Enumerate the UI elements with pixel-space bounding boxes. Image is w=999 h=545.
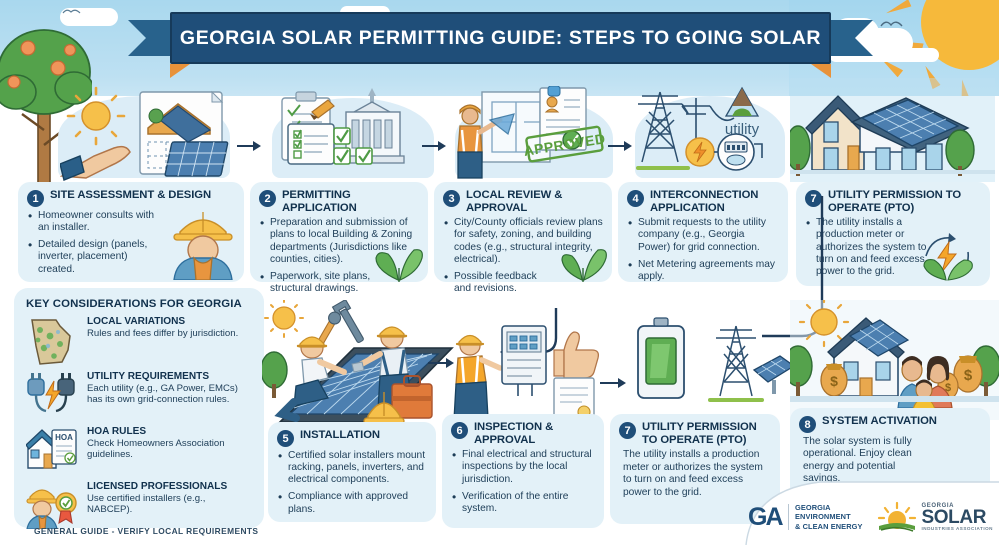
key-consideration-title: LICENSED PROFESSIONALS [87, 481, 252, 493]
ga-logo-line1: GEORGIA [795, 503, 863, 512]
leaf-sprout-icon [374, 238, 424, 282]
bullet-item: Submit requests to the utility company (… [627, 217, 779, 253]
step-badge: 7 [619, 422, 636, 439]
bullet-item: Final electrical and structural inspecti… [451, 449, 595, 485]
step-badge: 4 [627, 190, 644, 207]
ga-logo-line2: ENVIRONMENT [795, 512, 863, 521]
gsia-logo-tiny: INDUSTRIES ASSOCIATION [922, 527, 994, 532]
key-consideration-title: UTILITY REQUIREMENTS [87, 371, 252, 383]
step-bullets: Final electrical and structural inspecti… [451, 449, 595, 515]
georgia-map-icon [26, 316, 78, 364]
energy-cycle-leaf-icon [916, 228, 980, 282]
key-consideration-item[interactable]: LICENSED PROFESSIONALS Use certified ins… [26, 481, 252, 529]
step-4-illustration: utility [630, 82, 790, 182]
logo-divider [788, 504, 790, 530]
bullet-item: Net Metering agreements may apply. [627, 259, 779, 283]
step-badge: 8 [799, 416, 816, 433]
step-badge: 3 [443, 190, 460, 207]
svg-text:$: $ [830, 373, 838, 389]
key-consideration-title: LOCAL VARIATIONS [87, 316, 238, 328]
key-consideration-desc: Rules and fees differ by jurisdiction. [87, 328, 238, 339]
step-bullets: Certified solar installers mount racking… [277, 450, 427, 516]
step-6-illustration [450, 318, 610, 422]
svg-text:HOA: HOA [55, 433, 73, 442]
step-title: PERMITTING APPLICATION [282, 189, 419, 214]
installer-avatar-icon [166, 206, 240, 280]
step-badge: 1 [27, 190, 44, 207]
page-title: GEORGIA SOLAR PERMITTING GUIDE: STEPS TO… [180, 27, 821, 50]
bullet-item: Detailed design (panels, inverter, place… [27, 239, 167, 275]
title-banner: GEORGIA SOLAR PERMITTING GUIDE: STEPS TO… [170, 12, 831, 64]
key-considerations-heading: KEY CONSIDERATIONS FOR GEORGIA [26, 298, 252, 310]
gsia-logo-big: SOLAR [922, 509, 994, 527]
step-card-6[interactable]: 6 INSPECTION & APPROVAL Final electrical… [442, 414, 604, 528]
svg-text:utility: utility [725, 121, 760, 138]
step-bullets: Submit requests to the utility company (… [627, 217, 779, 283]
bird-icon [880, 18, 904, 30]
step-card-2[interactable]: 2 PERMITTING APPLICATION Preparation and… [250, 182, 428, 282]
step-title: SITE ASSESSMENT & DESIGN [50, 189, 211, 202]
title-ribbon: GEORGIA SOLAR PERMITTING GUIDE: STEPS TO… [128, 12, 873, 64]
bullet-item: Compliance with approved plans. [277, 491, 427, 515]
key-consideration-item[interactable]: LOCAL VARIATIONS Rules and fees differ b… [26, 316, 252, 364]
leaf-sprout-icon [560, 238, 608, 282]
power-plug-icon [26, 371, 78, 419]
step-7-top-illustration [790, 78, 995, 182]
key-consideration-item[interactable]: UTILITY REQUIREMENTS Each utility (e.g.,… [26, 371, 252, 419]
flow-arrow-1-2 [237, 141, 263, 151]
step-2-illustration [272, 84, 437, 182]
bullet-item: Homeowner consults with an installer. [27, 210, 162, 234]
step-card-1[interactable]: 1 SITE ASSESSMENT & DESIGN Homeowner con… [18, 182, 244, 282]
bullet-item: Paperwork, site plans, structural drawin… [259, 271, 374, 295]
step-title: INSTALLATION [300, 429, 380, 442]
ga-logo-mark: GA [748, 505, 782, 530]
step-card-5[interactable]: 5 INSTALLATION Certified solar installer… [268, 422, 436, 522]
flow-arrow-6-7 [600, 378, 630, 388]
step-title: SYSTEM ACTIVATION [822, 415, 937, 428]
key-consideration-desc: Check Homeowners Association guidelines. [87, 438, 252, 461]
ga-logo-line3: & CLEAN ENERGY [795, 522, 863, 531]
step-badge: 2 [259, 190, 276, 207]
footer-disclaimer: GENERAL GUIDE - VERIFY LOCAL REQUIREMENT… [34, 526, 258, 536]
key-consideration-item[interactable]: HOA HOA RULES Check Homeowners Associati… [26, 426, 252, 474]
sun-field-icon [877, 500, 917, 534]
bullet-item: Certified solar installers mount racking… [277, 450, 427, 486]
certified-installer-badge-icon [26, 481, 78, 529]
step-badge: 5 [277, 430, 294, 447]
step-3-illustration: APPROVED [452, 86, 618, 182]
step-title: INSPECTION & APPROVAL [474, 421, 586, 446]
bullet-item: Verification of the entire system. [451, 491, 595, 515]
infographic-canvas: GEORGIA SOLAR PERMITTING GUIDE: STEPS TO… [0, 0, 999, 545]
hoa-house-document-icon: HOA [26, 426, 78, 474]
step-title: UTILITY PERMISSION TO OPERATE (PTO) [642, 421, 770, 446]
flow-arrow-2-3 [422, 141, 448, 151]
step-title: UTILITY PERMISSION TO OPERATE (PTO) [828, 189, 981, 214]
key-consideration-desc: Use certified installers (e.g., NABCEP). [87, 493, 252, 516]
key-consideration-desc: Each utility (e.g., GA Power, EMCs) has … [87, 383, 252, 406]
bullet-item: Possible feedback and revisions. [443, 271, 553, 295]
footer-logos: GA GEORGIA ENVIRONMENT & CLEAN ENERGY GE… [748, 500, 993, 534]
svg-text:$: $ [964, 367, 973, 384]
ga-environment-logo: GA GEORGIA ENVIRONMENT & CLEAN ENERGY [748, 503, 863, 531]
step-title: LOCAL REVIEW & APPROVAL [466, 189, 603, 214]
key-considerations-panel: KEY CONSIDERATIONS FOR GEORGIA LOCAL VAR… [14, 288, 264, 528]
step-card-3[interactable]: 3 LOCAL REVIEW & APPROVAL City/County of… [434, 182, 612, 282]
step-badge: 6 [451, 422, 468, 439]
step-7-illustration [630, 316, 800, 416]
key-consideration-title: HOA RULES [87, 426, 252, 438]
step-8-illustration: $ $ $ [790, 300, 999, 420]
step-1-illustration [60, 86, 235, 182]
georgia-solar-logo: GEORGIA SOLAR INDUSTRIES ASSOCIATION [877, 500, 994, 534]
